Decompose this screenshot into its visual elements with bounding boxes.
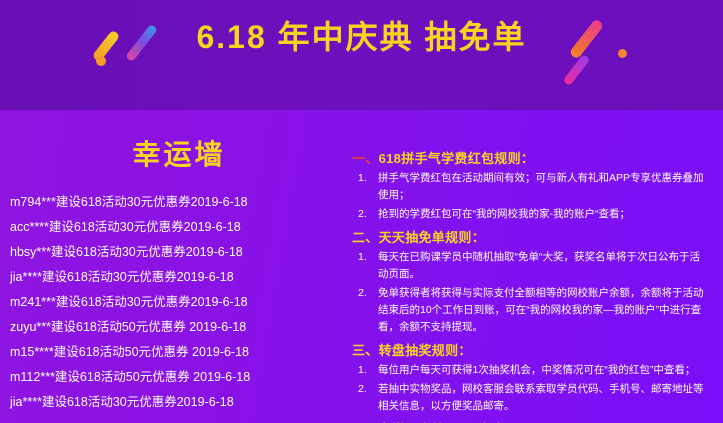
rule-item: 2.免单获得者将获得与实际支付全额相等的网校账户余额，余额将于活动结束后的10个…	[352, 285, 709, 336]
list-item: m794***建设618活动30元优惠券2019-6-18	[10, 190, 340, 215]
lucky-wall-list: m794***建设618活动30元优惠券2019-6-18 acc****建设6…	[0, 190, 340, 415]
header-banner: 6.18 年中庆典 抽免单	[0, 0, 723, 110]
rule-item: 2.若抽中实物奖品，网校客服会联系索取学员代码、手机号、邮寄地址等相关信息，以方…	[352, 381, 709, 415]
rule-block-2: 二、天天抽免单规则： 1.每天在已购课学员中随机抽取“免单“大奖，获奖名单将于次…	[352, 227, 709, 336]
rule-heading-text-3: 转盘抽奖规则：	[379, 343, 472, 358]
rule-item-number: 2.	[358, 285, 367, 302]
rule-item-number: 2.	[358, 381, 367, 398]
rule-index-3: 三、	[352, 343, 379, 358]
rule-heading-2: 二、天天抽免单规则：	[352, 227, 709, 248]
rule-block-1: 一、618拼手气学费红包规则： 1.拼手气学费红包在活动期间有效；可与新人有礼和…	[352, 148, 709, 223]
list-item: m241***建设618活动30元优惠券2019-6-18	[10, 290, 340, 315]
rule-heading-text-1: 618拼手气学费红包规则：	[379, 151, 535, 166]
promo-page: 6.18 年中庆典 抽免单 幸运墙 m794***建设618活动30元优惠券20…	[0, 0, 723, 423]
rule-heading-1: 一、618拼手气学费红包规则：	[352, 148, 709, 169]
list-item: hbsy***建设618活动30元优惠券2019-6-18	[10, 240, 340, 265]
rule-item-text: 拼手气学费红包在活动期间有效；可与新人有礼和APP专享优惠券叠加使用；	[378, 172, 704, 201]
rule-item-number: 1.	[358, 362, 367, 379]
rule-item-text: 若抽中实物奖品，网校客服会联系索取学员代码、手机号、邮寄地址等相关信息，以方便奖…	[378, 383, 704, 412]
rule-item-text: 每天在已购课学员中随机抽取“免单“大奖，获奖名单将于次日公布于活动页面。	[378, 251, 700, 280]
rule-index-1: 一、	[352, 151, 379, 166]
lucky-wall-panel: 幸运墙 m794***建设618活动30元优惠券2019-6-18 acc***…	[0, 110, 340, 423]
lucky-wall-title: 幸运墙	[0, 138, 340, 172]
list-item: jia****建设618活动30元优惠券2019-6-18	[10, 390, 340, 415]
page-content: 幸运墙 m794***建设618活动30元优惠券2019-6-18 acc***…	[0, 110, 723, 423]
list-item: m15****建设618活动50元优惠券 2019-6-18	[10, 340, 340, 365]
rule-item-text: 每位用户每天可获得1次抽奖机会，中奖情况可在“我的红包”中查看；	[378, 364, 695, 376]
rule-list-3: 1.每位用户每天可获得1次抽奖机会，中奖情况可在“我的红包”中查看； 2.若抽中…	[352, 362, 709, 415]
rule-index-2: 二、	[352, 230, 379, 245]
list-item: jia****建设618活动30元优惠券2019-6-18	[10, 265, 340, 290]
rule-item-number: 2.	[358, 206, 367, 223]
rule-list-2: 1.每天在已购课学员中随机抽取“免单“大奖，获奖名单将于次日公布于活动页面。 2…	[352, 249, 709, 336]
rule-item-text: 抢到的学费红包可在“我的网校我的家-我的账户“查看；	[378, 208, 630, 220]
rules-panel: 一、618拼手气学费红包规则： 1.拼手气学费红包在活动期间有效；可与新人有礼和…	[340, 110, 723, 423]
rule-block-4: 四、老学员发放200元红包： 活动开始后，网校将给老学员发放200元红包，可与6…	[352, 419, 709, 423]
rule-block-3: 三、转盘抽奖规则： 1.每位用户每天可获得1次抽奖机会，中奖情况可在“我的红包”…	[352, 340, 709, 415]
rule-item-text: 免单获得者将获得与实际支付全额相等的网校账户余额，余额将于活动结束后的10个工作…	[378, 287, 704, 333]
list-item: m112***建设618活动50元优惠券 2019-6-18	[10, 365, 340, 390]
list-item: zuyu***建设618活动50元优惠券 2019-6-18	[10, 315, 340, 340]
rule-item: 1.每天在已购课学员中随机抽取“免单“大奖，获奖名单将于次日公布于活动页面。	[352, 249, 709, 283]
rule-list-1: 1.拼手气学费红包在活动期间有效；可与新人有礼和APP专享优惠券叠加使用； 2.…	[352, 170, 709, 223]
banner-title: 6.18 年中庆典 抽免单	[0, 17, 723, 57]
rule-item: 2.抢到的学费红包可在“我的网校我的家-我的账户“查看；	[352, 206, 709, 223]
rule-heading-4: 四、老学员发放200元红包：	[352, 419, 709, 423]
rule-item-number: 1.	[358, 249, 367, 266]
magenta-slash-icon	[562, 54, 590, 86]
rule-item: 1.每位用户每天可获得1次抽奖机会，中奖情况可在“我的红包”中查看；	[352, 362, 709, 379]
rule-item-number: 1.	[358, 170, 367, 187]
rule-item: 1.拼手气学费红包在活动期间有效；可与新人有礼和APP专享优惠券叠加使用；	[352, 170, 709, 204]
list-item: acc****建设618活动30元优惠券2019-6-18	[10, 215, 340, 240]
rule-heading-text-2: 天天抽免单规则：	[379, 230, 485, 245]
orange-dot-right-icon	[618, 49, 627, 58]
rule-heading-3: 三、转盘抽奖规则：	[352, 340, 709, 361]
orange-dot-icon	[96, 56, 106, 66]
